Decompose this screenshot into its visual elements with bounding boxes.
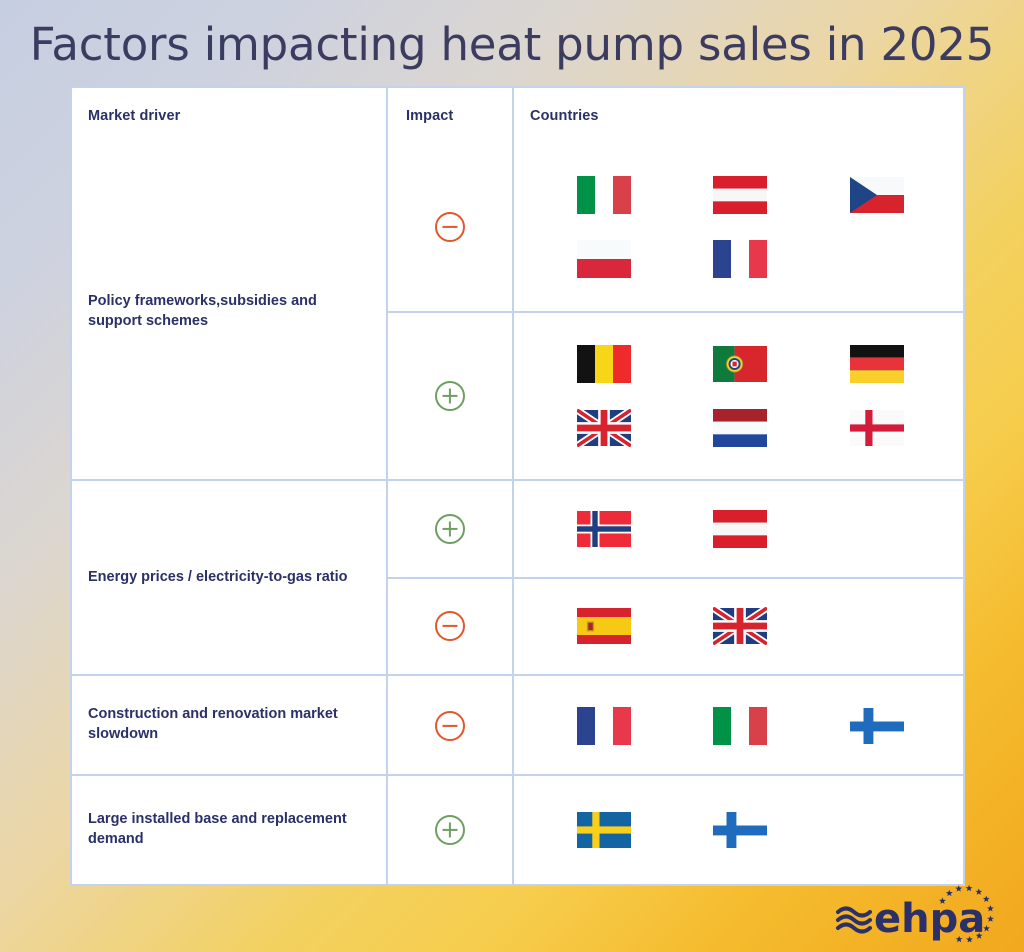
svg-text:ehpa: ehpa <box>874 896 985 942</box>
impact-cell <box>388 144 512 311</box>
impact-subrow <box>388 481 963 577</box>
flag-at-icon <box>713 176 767 214</box>
flag-cell <box>536 510 672 548</box>
flag-cell <box>672 510 808 548</box>
impact-cell <box>388 776 512 884</box>
table-row: Construction and renovation market slowd… <box>72 674 963 774</box>
ehpa-logo: ehpa <box>834 884 1002 942</box>
plus-circle-icon <box>435 381 465 411</box>
flag-cell <box>672 240 808 278</box>
flag-cell <box>536 607 672 645</box>
table-row: Large installed base and replacement dem… <box>72 774 963 884</box>
flag-grid <box>536 176 945 278</box>
table-body: Policy frameworks,subsidies and support … <box>72 144 963 884</box>
flag-cell <box>672 409 808 447</box>
flag-gb-icon <box>577 409 631 447</box>
impact-cell <box>388 579 512 675</box>
flag-es-icon <box>577 607 631 645</box>
header-cell-driver: Market driver <box>72 88 386 144</box>
table-row: Energy prices / electricity-to-gas ratio <box>72 479 963 674</box>
flag-cell <box>536 707 672 745</box>
driver-cell: Construction and renovation market slowd… <box>72 676 386 774</box>
table-row: Policy frameworks,subsidies and support … <box>72 144 963 479</box>
flag-pl-icon <box>577 240 631 278</box>
flag-no-icon <box>577 510 631 548</box>
countries-cell <box>512 676 963 776</box>
flag-gb-icon <box>713 607 767 645</box>
flag-be-icon <box>577 345 631 383</box>
impact-groups <box>386 481 963 674</box>
driver-label: Policy frameworks,subsidies and support … <box>88 292 372 331</box>
countries-cell <box>512 579 963 675</box>
header-label-countries: Countries <box>530 108 599 124</box>
flag-cell <box>809 707 945 745</box>
flag-cell <box>809 176 945 214</box>
table-header-row: Market driver Impact Countries <box>72 88 963 144</box>
flag-grid <box>536 510 945 548</box>
impact-groups <box>386 776 963 884</box>
minus-circle-icon <box>435 711 465 741</box>
flag-cell <box>536 811 672 849</box>
flag-cell <box>536 345 672 383</box>
flag-fi-icon <box>850 707 904 745</box>
impact-cell <box>388 676 512 776</box>
plus-circle-icon <box>435 514 465 544</box>
flag-cell <box>672 176 808 214</box>
flag-cell <box>672 811 808 849</box>
plus-circle-icon <box>435 815 465 845</box>
header-cell-countries: Countries <box>512 88 963 144</box>
flag-cell <box>536 409 672 447</box>
countries-cell <box>512 313 963 480</box>
flag-grid <box>536 345 945 447</box>
flag-pt-icon <box>713 345 767 383</box>
countries-cell <box>512 776 963 884</box>
flag-it-icon <box>713 707 767 745</box>
driver-label: Energy prices / electricity-to-gas ratio <box>88 568 347 588</box>
flag-cell <box>536 176 672 214</box>
impact-subrow <box>388 144 963 311</box>
flag-cell <box>672 607 808 645</box>
flag-grid <box>536 811 945 849</box>
minus-circle-icon <box>435 611 465 641</box>
flag-dk-icon <box>850 409 904 447</box>
flag-fr-icon <box>577 707 631 745</box>
flag-fr-icon <box>713 240 767 278</box>
header-label-driver: Market driver <box>88 108 180 124</box>
flag-cell <box>672 707 808 745</box>
header-label-impact: Impact <box>406 108 453 124</box>
flag-grid <box>536 707 945 745</box>
driver-cell: Policy frameworks,subsidies and support … <box>72 144 386 479</box>
impact-subrow <box>388 577 963 675</box>
poster-canvas: Factors impacting heat pump sales in 202… <box>0 0 1024 952</box>
flag-it-icon <box>577 176 631 214</box>
flag-cell <box>672 345 808 383</box>
impact-groups <box>386 676 963 774</box>
flag-de-icon <box>850 345 904 383</box>
impact-cell <box>388 313 512 480</box>
flag-se-icon <box>577 811 631 849</box>
driver-label: Large installed base and replacement dem… <box>88 810 372 849</box>
flag-cell <box>809 409 945 447</box>
flag-cell <box>536 240 672 278</box>
countries-cell <box>512 481 963 577</box>
flag-at-icon <box>713 510 767 548</box>
header-cell-impact: Impact <box>386 88 512 144</box>
driver-label: Construction and renovation market slowd… <box>88 705 372 744</box>
flag-grid <box>536 607 945 645</box>
flag-cell <box>809 345 945 383</box>
impact-subrow <box>388 676 963 776</box>
factors-table: Market driver Impact Countries Policy fr… <box>70 86 965 886</box>
impact-subrow <box>388 311 963 480</box>
flag-nl-icon <box>713 409 767 447</box>
impact-groups <box>386 144 963 479</box>
wave-lines-icon <box>838 909 870 932</box>
impact-subrow <box>388 776 963 884</box>
flag-cz-icon <box>850 176 904 214</box>
flag-fi-icon <box>713 811 767 849</box>
impact-cell <box>388 481 512 577</box>
countries-cell <box>512 144 963 311</box>
driver-cell: Energy prices / electricity-to-gas ratio <box>72 481 386 674</box>
minus-circle-icon <box>435 212 465 242</box>
driver-cell: Large installed base and replacement dem… <box>72 776 386 884</box>
page-title: Factors impacting heat pump sales in 202… <box>0 18 1024 71</box>
